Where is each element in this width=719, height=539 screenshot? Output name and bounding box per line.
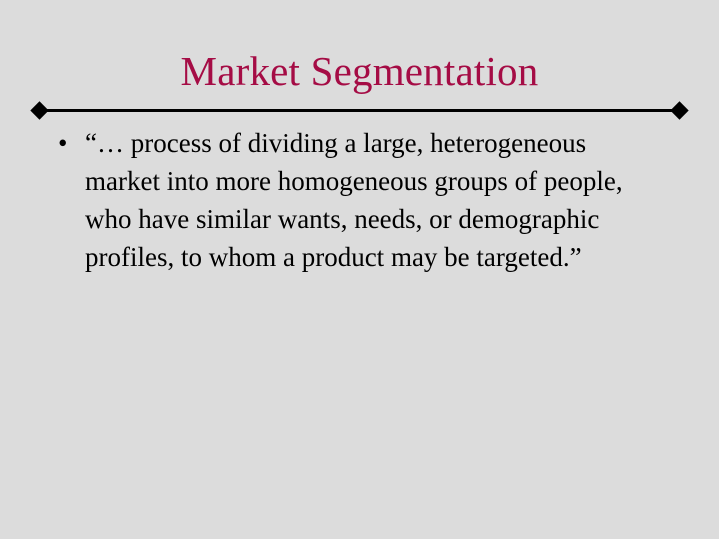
slide-canvas: Market Segmentation • “… process of divi… [0, 0, 719, 539]
bullet-text: “… process of dividing a large, heteroge… [85, 124, 625, 276]
title-divider [33, 103, 686, 118]
slide-body: • “… process of dividing a large, hetero… [49, 124, 649, 276]
diamond-right-icon [670, 101, 688, 119]
list-item: • “… process of dividing a large, hetero… [49, 124, 649, 276]
divider-line [39, 109, 680, 112]
page-title: Market Segmentation [0, 48, 719, 94]
bullet-icon: • [58, 124, 67, 162]
